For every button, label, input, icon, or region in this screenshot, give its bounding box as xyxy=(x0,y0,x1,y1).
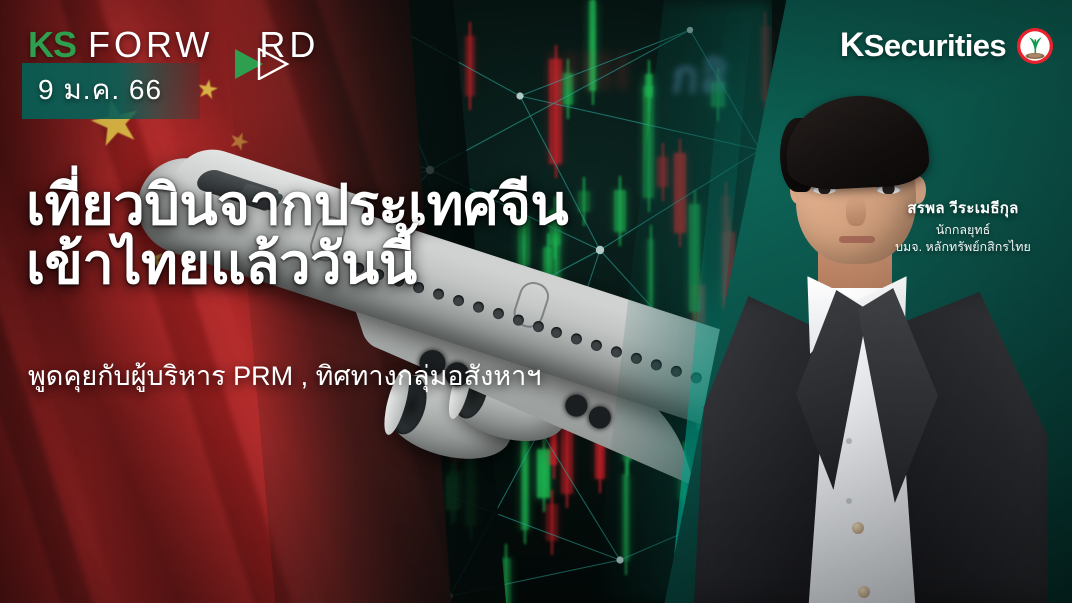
speaker-photo xyxy=(700,78,1030,603)
jacket-button xyxy=(852,522,864,534)
speaker-role: นักกลยุทธ์ xyxy=(868,222,1058,239)
kbank-seedling-icon xyxy=(1016,27,1054,65)
speaker-organization: บมจ. หลักทรัพย์กสิกรไทย xyxy=(868,239,1058,256)
shirt-button xyxy=(846,498,852,504)
play-triangle-icon xyxy=(233,48,293,80)
speaker-credit: สรพล วีระเมธีกุล นักกลยุทธ์ บมจ. หลักทรั… xyxy=(868,196,1058,256)
shirt-button xyxy=(846,438,852,444)
hair xyxy=(784,92,931,191)
ksecurities-logo: KSecurities xyxy=(840,26,1054,65)
logo-forward-text: FORW xyxy=(88,27,213,63)
ksecurities-k: K xyxy=(840,26,864,64)
nose xyxy=(846,196,866,226)
date-badge: 9 ม.ค. 66 xyxy=(22,63,200,119)
subtitle: พูดคุยกับผู้บริหาร PRM , ทิศทางกลุ่มอสัง… xyxy=(28,360,728,392)
ksecurities-name: Securities xyxy=(864,28,1006,63)
jacket-button xyxy=(858,586,870,598)
video-thumbnail-canvas: ||||| กสิ xyxy=(0,0,1072,603)
page-title: เที่ยวบินจากประเทศจีน เข้าไทยแล้ววันนี้ xyxy=(26,176,726,294)
headline-line-2: เข้าไทยแล้ววันนี้ xyxy=(26,235,726,294)
ks-forward-logo: KS FORW RD xyxy=(28,22,319,68)
speaker-name: สรพล วีระเมธีกุล xyxy=(868,196,1058,220)
ksecurities-wordmark: KSecurities xyxy=(840,26,1006,65)
logo-ks-text: KS xyxy=(28,27,76,63)
headline-line-1: เที่ยวบินจากประเทศจีน xyxy=(26,176,726,235)
